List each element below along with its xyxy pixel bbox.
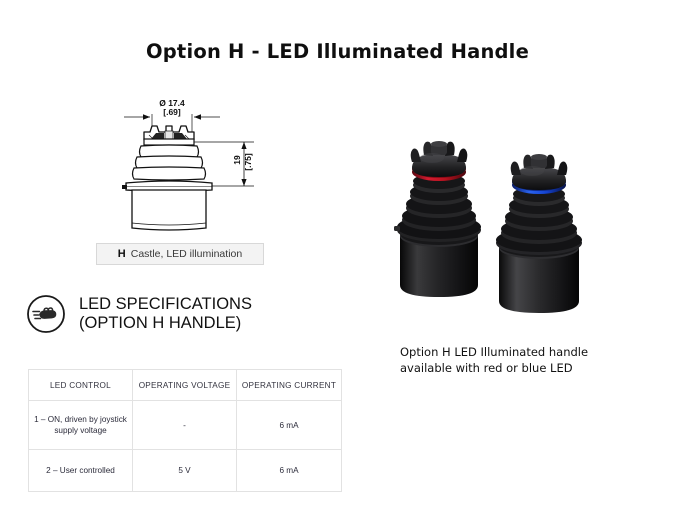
cell-led-control: 1 – ON, driven by joystick supply voltag… [29, 401, 133, 450]
product-photo [372, 133, 634, 325]
product-photo-caption: Option H LED Illuminated handle availabl… [400, 344, 650, 376]
column-header-led-control: LED CONTROL [29, 370, 133, 401]
led-specifications-heading: LED SPECIFICATIONS (OPTION H HANDLE) [26, 294, 252, 334]
drawing-caption-letter: H [118, 248, 126, 260]
cell-operating-current: 6 mA [237, 401, 342, 450]
drawing-caption-box: H Castle, LED illumination [96, 243, 264, 265]
blue-led-handle [496, 154, 582, 313]
table-row: 2 – User controlled 5 V 6 mA [29, 450, 342, 492]
spec-heading-line-2: (OPTION H HANDLE) [79, 314, 252, 333]
drawing-caption-text: Castle, LED illumination [131, 248, 242, 260]
spec-heading-line-1: LED SPECIFICATIONS [79, 295, 252, 314]
dimension-diameter-imperial: [.69] [163, 107, 181, 117]
page-title: Option H - LED Illuminated Handle [0, 40, 675, 63]
cell-operating-voltage: - [133, 401, 237, 450]
cell-operating-voltage: 5 V [133, 450, 237, 492]
hand-joystick-icon [26, 294, 66, 334]
photo-caption-line-1: Option H LED Illuminated handle [400, 344, 650, 360]
dimension-height-imperial: [.75] [243, 153, 253, 171]
column-header-operating-current: OPERATING CURRENT [237, 370, 342, 401]
red-led-handle [394, 141, 481, 297]
cell-operating-current: 6 mA [237, 450, 342, 492]
cell-led-control: 2 – User controlled [29, 450, 133, 492]
dimension-height-metric: 19 [232, 155, 242, 165]
table-header-row: LED CONTROL OPERATING VOLTAGE OPERATING … [29, 370, 342, 401]
led-specifications-table: LED CONTROL OPERATING VOLTAGE OPERATING … [28, 369, 342, 492]
technical-drawing: Ø 17.4 [.69] 19 [.75] [104, 92, 284, 240]
photo-caption-line-2: available with red or blue LED [400, 360, 650, 376]
column-header-operating-voltage: OPERATING VOLTAGE [133, 370, 237, 401]
table-row: 1 – ON, driven by joystick supply voltag… [29, 401, 342, 450]
